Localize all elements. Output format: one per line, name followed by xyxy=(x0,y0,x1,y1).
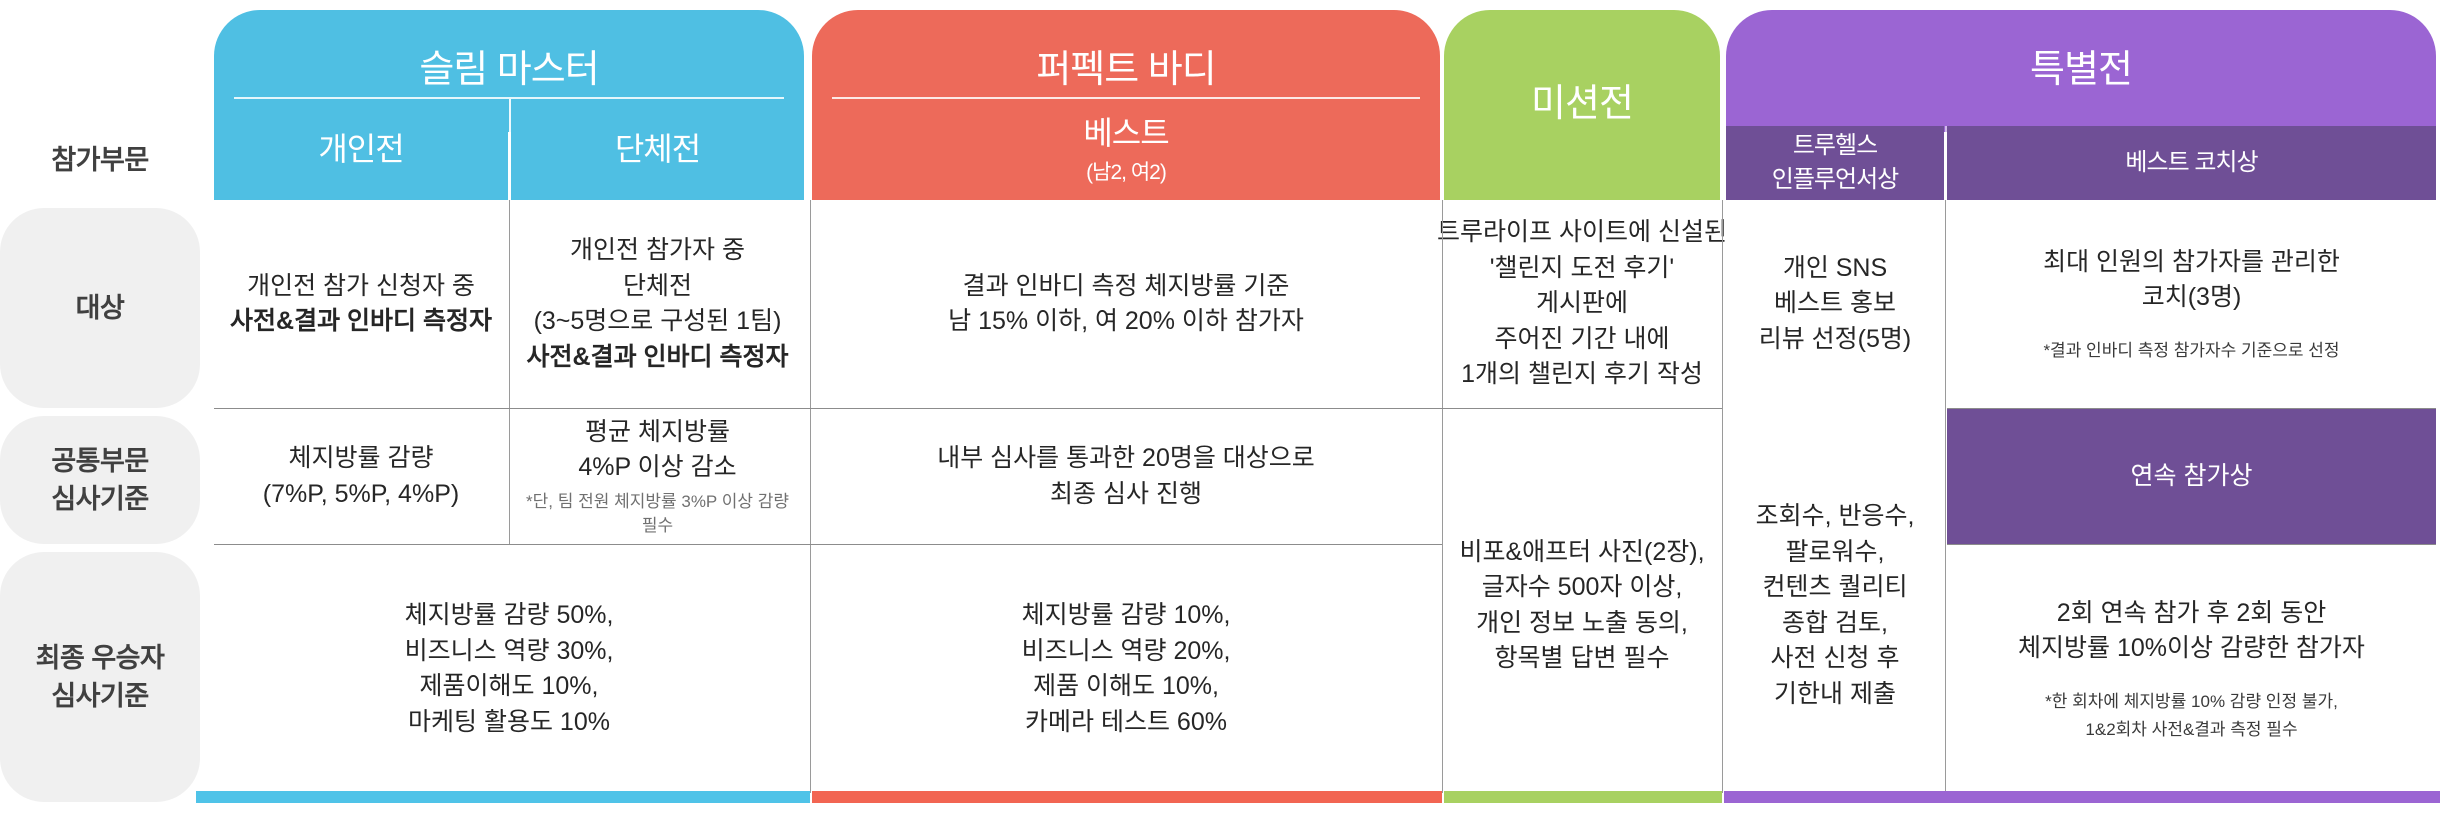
cell-target-mission: 트루라이프 사이트에 신설된 '챌린지 도전 후기' 게시판에 주어진 기간 내… xyxy=(1444,200,1720,408)
accent-bar-special xyxy=(1724,791,2440,803)
subcolumn-label-truehealth-influencer-line2: 인플루언서상 xyxy=(1772,163,1898,197)
influencer-eval-line-6: 기한내 제출 xyxy=(1774,677,1896,713)
influencer-eval-line-4: 종합 검토, xyxy=(1782,606,1888,642)
target-team-line-1: 개인전 참가자 중 xyxy=(570,233,745,269)
accent-bar-slim-master xyxy=(196,791,810,803)
final-perfect-line-2: 비즈니스 역량 20%, xyxy=(1022,634,1231,670)
common-best-line-1: 내부 심사를 통과한 20명을 대상으로 xyxy=(937,441,1315,477)
target-mission-line-5: 1개의 챌린지 후기 작성 xyxy=(1461,357,1703,393)
mission-req-line-1: 비포&애프터 사진(2장), xyxy=(1459,535,1704,571)
final-coach-line-2: 체지방률 10%이상 감량한 참가자 xyxy=(2018,631,2365,667)
gridline-v-influencer-coach xyxy=(1945,200,1946,793)
special-award-banner: 연속 참가상 xyxy=(1947,409,2436,544)
target-individual-line-1: 개인전 참가 신청자 중 xyxy=(247,269,475,305)
target-coach-note: *결과 인바디 측정 참가자수 기준으로 선정 xyxy=(2043,338,2339,364)
subcolumn-label-team: 단체전 xyxy=(615,127,700,172)
final-slim-line-4: 마케팅 활용도 10% xyxy=(408,705,610,741)
subcolumn-label-truehealth-influencer-line1: 트루헬스 xyxy=(1793,129,1877,163)
target-influencer-line-3: 리뷰 선정(5명) xyxy=(1759,322,1912,358)
subcolumn-header-truehealth-influencer: 트루헬스 인플루언서상 xyxy=(1726,126,1944,200)
category-title-special: 특별전 xyxy=(2030,44,2132,98)
target-influencer-line-1: 개인 SNS xyxy=(1783,251,1887,287)
category-title-slim-master: 슬림 마스터 xyxy=(419,44,598,98)
common-team-line-1: 평균 체지방률 xyxy=(585,415,730,451)
cell-target-truehealth-influencer: 개인 SNS 베스트 홍보 리뷰 선정(5명) xyxy=(1726,200,1944,408)
subcolumn-header-team: 단체전 xyxy=(511,99,804,200)
category-title-mission: 미션전 xyxy=(1531,78,1633,132)
participation-category-table: 슬림 마스터 퍼펙트 바디 미션전 특별전 개인전 단체전 베스트 (남2, 여… xyxy=(0,0,2440,813)
influencer-eval-line-1: 조회수, 반응수, xyxy=(1756,499,1915,535)
subcolumn-header-best-coach: 베스트 코치상 xyxy=(1947,126,2436,200)
target-individual-bold-1: 사전&결과 인바디 측정자 xyxy=(230,304,492,340)
cell-target-team: 개인전 참가자 중 단체전 (3~5명으로 구성된 1팀) 사전&결과 인바디 … xyxy=(511,200,804,408)
mission-req-line-2: 글자수 500자 이상, xyxy=(1482,570,1683,606)
target-team-bold-1: 사전&결과 인바디 측정자 xyxy=(527,340,789,376)
category-banner-special: 특별전 xyxy=(1726,10,2436,132)
category-banner-mission: 미션전 xyxy=(1444,10,1720,200)
accent-bar-perfect-body xyxy=(812,791,1442,803)
cell-mission-submission-requirements: 비포&애프터 사진(2장), 글자수 500자 이상, 개인 정보 노출 동의,… xyxy=(1444,409,1720,802)
final-perfect-line-4: 카메라 테스트 60% xyxy=(1025,705,1227,741)
target-team-line-3: (3~5명으로 구성된 1팀) xyxy=(534,304,782,340)
category-title-perfect-body: 퍼펙트 바디 xyxy=(1036,44,1215,98)
gridline-v-perfect-mission xyxy=(1442,200,1443,793)
row-label-target: 대상 xyxy=(0,208,200,408)
target-influencer-line-2: 베스트 홍보 xyxy=(1774,286,1896,322)
final-perfect-line-3: 제품 이해도 10%, xyxy=(1033,669,1219,705)
cell-final-best-coach: 2회 연속 참가 후 2회 동안 체지방률 10%이상 감량한 참가자 *한 회… xyxy=(1947,545,2436,793)
gridline-h-common-final xyxy=(214,544,1442,545)
subcolumn-label-best-coach: 베스트 코치상 xyxy=(2125,146,2257,180)
common-best-line-2: 최종 심사 진행 xyxy=(1050,477,1202,513)
accent-bar-mission xyxy=(1444,791,1722,803)
final-perfect-line-1: 체지방률 감량 10%, xyxy=(1022,598,1231,634)
final-slim-line-1: 체지방률 감량 50%, xyxy=(405,598,614,634)
common-individual-line-2: (7%P, 5%P, 4%P) xyxy=(263,477,459,513)
final-coach-line-1: 2회 연속 참가 후 2회 동안 xyxy=(2057,596,2327,632)
gridline-v-mission-special xyxy=(1722,200,1723,793)
target-coach-line-2: 코치(3명) xyxy=(2142,280,2242,316)
target-mission-line-3: 게시판에 xyxy=(1536,286,1628,322)
target-mission-line-1: 트루라이프 사이트에 신설된 xyxy=(1437,215,1727,251)
gridline-h-common-final-special xyxy=(1947,544,2436,545)
gridline-v-slim-perfect xyxy=(810,200,811,793)
gridline-h-target-common-special xyxy=(1947,408,2436,409)
row-label-common-criteria: 공통부문 심사기준 xyxy=(0,416,200,544)
influencer-eval-line-3: 컨텐츠 퀄리티 xyxy=(1763,570,1908,606)
cell-common-individual: 체지방률 감량 (7%P, 5%P, 4%P) xyxy=(214,409,508,544)
cell-target-individual: 개인전 참가 신청자 중 사전&결과 인바디 측정자 xyxy=(214,200,508,408)
cell-common-best: 내부 심사를 통과한 20명을 대상으로 최종 심사 진행 xyxy=(812,409,1440,544)
influencer-eval-line-2: 팔로워수, xyxy=(1786,535,1885,571)
influencer-eval-line-5: 사전 신청 후 xyxy=(1771,641,1900,677)
row-label-final-criteria: 최종 우승자 심사기준 xyxy=(0,552,200,802)
target-best-line-1: 결과 인바디 측정 체지방률 기준 xyxy=(963,269,1290,305)
special-award-label: 연속 참가상 xyxy=(2131,459,2253,495)
cell-target-best-coach: 최대 인원의 참가자를 관리한 코치(3명) *결과 인바디 측정 참가자수 기… xyxy=(1947,200,2436,408)
final-slim-line-3: 제품이해도 10%, xyxy=(420,669,599,705)
final-coach-note-line-1: *한 회차에 체지방률 10% 감량 인정 불가, xyxy=(2045,689,2338,715)
mission-req-line-4: 항목별 답변 필수 xyxy=(1495,641,1670,677)
subcolumn-header-individual: 개인전 xyxy=(214,99,508,200)
common-individual-line-1: 체지방률 감량 xyxy=(289,441,434,477)
subcolumn-label-individual: 개인전 xyxy=(318,127,403,172)
target-coach-line-1: 최대 인원의 참가자를 관리한 xyxy=(2043,245,2340,281)
final-coach-note-line-2: 1&2회차 사전&결과 측정 필수 xyxy=(2085,718,2297,742)
common-team-line-2: 4%P 이상 감소 xyxy=(578,450,736,486)
target-team-line-2: 단체전 xyxy=(623,269,692,305)
gridline-v-individual-team xyxy=(509,200,510,545)
target-best-line-2: 남 15% 이하, 여 20% 이하 참가자 xyxy=(948,304,1304,340)
mission-req-line-3: 개인 정보 노출 동의, xyxy=(1476,606,1688,642)
common-team-note: *단, 팀 전원 체지방률 3%P 이상 감량 필수 xyxy=(525,490,790,538)
target-mission-line-2: '챌린지 도전 후기' xyxy=(1490,251,1674,287)
gridline-h-target-common xyxy=(214,408,1722,409)
subcolumn-sublabel-best: (남2, 여2) xyxy=(1086,158,1166,188)
cell-final-slim-master: 체지방률 감량 50%, 비즈니스 역량 30%, 제품이해도 10%, 마케팅… xyxy=(214,545,804,793)
final-slim-line-2: 비즈니스 역량 30%, xyxy=(405,634,614,670)
cell-target-best: 결과 인바디 측정 체지방률 기준 남 15% 이하, 여 20% 이하 참가자 xyxy=(812,200,1440,408)
cell-common-team: 평균 체지방률 4%P 이상 감소 *단, 팀 전원 체지방률 3%P 이상 감… xyxy=(511,409,804,544)
row-label-header: 참가부문 xyxy=(0,120,200,200)
cell-influencer-evaluation: 조회수, 반응수, 팔로워수, 컨텐츠 퀄리티 종합 검토, 사전 신청 후 기… xyxy=(1726,409,1944,802)
subcolumn-label-best: 베스트 xyxy=(1083,111,1168,156)
target-mission-line-4: 주어진 기간 내에 xyxy=(1495,322,1670,358)
cell-final-perfect-body: 체지방률 감량 10%, 비즈니스 역량 20%, 제품 이해도 10%, 카메… xyxy=(812,545,1440,793)
subcolumn-header-best: 베스트 (남2, 여2) xyxy=(812,99,1440,200)
